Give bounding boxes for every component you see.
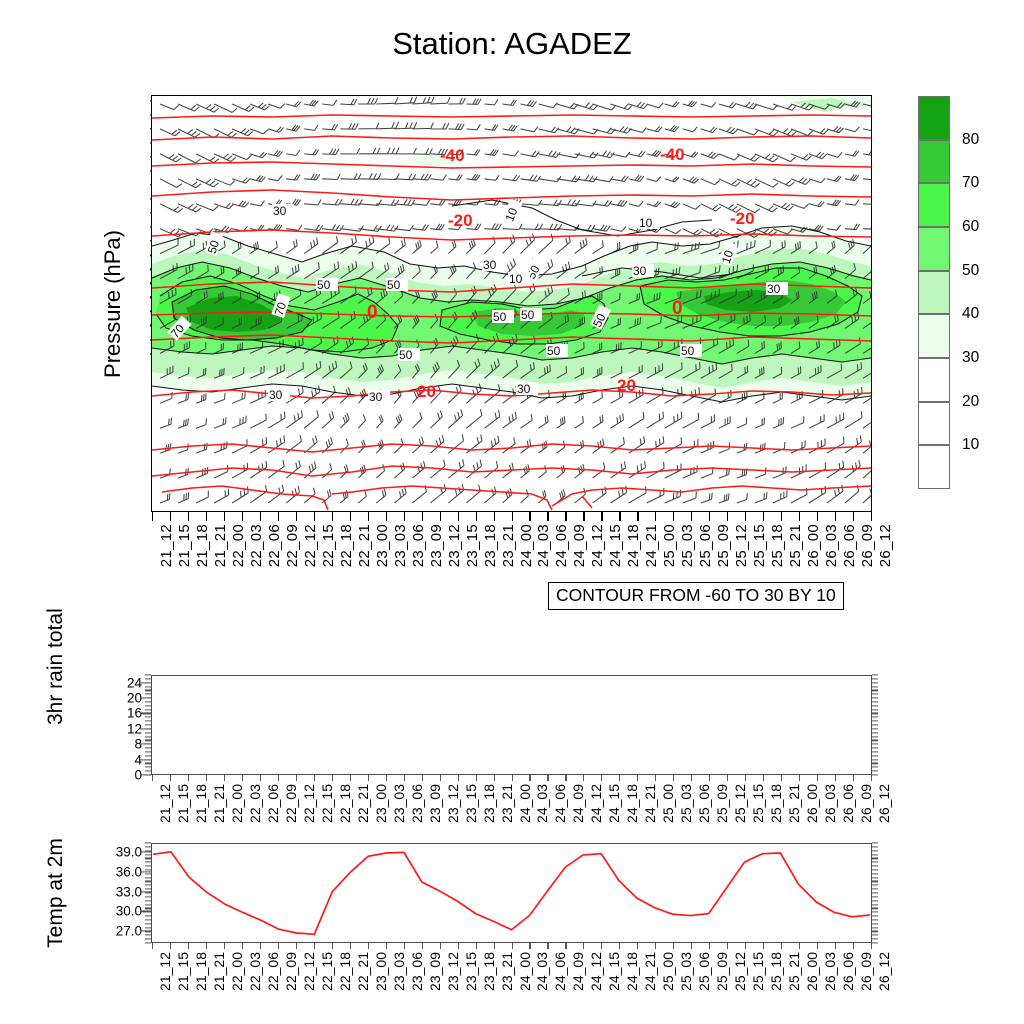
y-minor-tickmark: [872, 744, 878, 745]
time-tickmark: [368, 943, 369, 949]
time-tickmark: [691, 512, 692, 521]
time-tickmark: [817, 512, 818, 521]
y-minor-tickmark: [145, 923, 151, 924]
time-tickmark: [871, 775, 872, 781]
time-tickmark: [691, 775, 692, 781]
time-label-25_12: 25_12: [732, 784, 748, 823]
rh-contour-label: 10: [509, 272, 523, 286]
colorbar-swatch-3: [918, 227, 950, 271]
y-minor-tickmark: [872, 935, 878, 936]
time-label-23_06: 23_06: [409, 952, 425, 991]
y-minor-tickmark: [145, 919, 151, 920]
time-tickmark: [583, 775, 584, 781]
time-label-22_15: 22_15: [319, 952, 335, 991]
time-label-24_09: 24_09: [571, 524, 588, 567]
time-tickmark: [458, 512, 459, 521]
y-minor-tickmark: [872, 869, 878, 870]
time-label-21_15: 21_15: [175, 952, 191, 991]
time-tickmark: [422, 943, 423, 949]
y-minor-tickmark: [145, 896, 151, 897]
time-tickmark: [422, 775, 423, 781]
y-minor-tickmark: [872, 927, 878, 928]
y-minor-tickmark: [145, 690, 151, 691]
time-label-22_12: 22_12: [301, 784, 317, 823]
y-minor-tickmark: [872, 755, 878, 756]
time-label-26_06: 26_06: [840, 952, 856, 991]
rh-contour-label: 50: [547, 344, 561, 358]
y-minor-tickmark: [145, 705, 151, 706]
y-minor-tickmark: [145, 674, 151, 675]
y-minor-tickmark: [872, 881, 878, 882]
time-tickmark: [494, 512, 495, 521]
time-tickmark: [565, 943, 566, 949]
time-tickmark: [673, 512, 674, 521]
time-label-21_21: 21_21: [212, 524, 229, 567]
time-label-26_12: 26_12: [876, 784, 892, 823]
y-minor-tickmark: [145, 927, 151, 928]
rh-contour-label: 30: [269, 388, 283, 402]
time-label-21_12: 21_12: [158, 524, 175, 567]
y-minor-tickmark: [872, 763, 878, 764]
temp-y-axis-label: Temp at 2m: [44, 838, 68, 948]
main-plot-area: -40 -40 -20 -20 0 0 20 20 30 30 30: [151, 95, 872, 512]
y-minor-tickmark: [872, 942, 878, 943]
y-tick-label: 36.0: [116, 864, 142, 879]
time-tickmark: [278, 512, 279, 521]
time-tickmark: [224, 512, 225, 521]
rh-contour-label: 50: [317, 278, 331, 292]
time-tickmark: [170, 943, 171, 949]
time-label-23_21: 23_21: [499, 952, 515, 991]
y-minor-tickmark: [872, 767, 878, 768]
y-minor-tickmark: [872, 885, 878, 886]
y-minor-tickmark: [145, 697, 151, 698]
y-minor-tickmark: [872, 862, 878, 863]
time-label-26_03: 26_03: [822, 952, 838, 991]
colorbar-swatch-6: [918, 358, 950, 402]
time-tickmark: [529, 512, 530, 521]
y-minor-tickmark: [872, 732, 878, 733]
chart-page: Station: AGADEZ Pressure (hPa) 150200250…: [0, 0, 1024, 1024]
time-label-23_00: 23_00: [373, 784, 389, 823]
y-minor-tickmark: [872, 771, 878, 772]
time-tickmark: [458, 943, 459, 949]
time-tickmark: [278, 775, 279, 781]
time-label-25_06: 25_06: [696, 784, 712, 823]
y-minor-tickmark: [872, 751, 878, 752]
isotherm-label: 0: [367, 302, 378, 323]
time-label-22_06: 22_06: [266, 524, 283, 567]
time-tickmark: [727, 775, 728, 781]
colorbar-label-50: 50: [962, 262, 979, 280]
temp-line-svg: [152, 844, 871, 942]
time-tickmark: [655, 512, 656, 521]
time-tickmark: [314, 512, 315, 521]
time-tickmark: [709, 943, 710, 949]
y-minor-tickmark: [145, 942, 151, 943]
time-tickmark: [763, 775, 764, 781]
time-tickmark: [296, 512, 297, 521]
time-tickmark: [476, 512, 477, 521]
colorbar-swatch-0: [918, 96, 950, 140]
time-tickmark: [206, 943, 207, 949]
time-label-23_00: 23_00: [373, 952, 389, 991]
time-tickmark: [637, 943, 638, 949]
time-label-22_06: 22_06: [265, 952, 281, 991]
time-label-25_18: 25_18: [768, 784, 784, 823]
time-tickmark: [637, 512, 638, 521]
time-tickmark: [547, 775, 548, 781]
y-minor-tickmark: [872, 674, 878, 675]
time-label-23_12: 23_12: [445, 784, 461, 823]
rh-contour-label: 30: [767, 282, 781, 296]
y-tickmark: [140, 852, 151, 853]
colorbar-label-10: 10: [962, 436, 979, 454]
time-tickmark: [763, 943, 764, 949]
time-tickmark: [583, 943, 584, 949]
time-label-23_15: 23_15: [463, 952, 479, 991]
time-tickmark: [278, 943, 279, 949]
time-tickmark: [404, 512, 405, 521]
time-tickmark: [745, 512, 746, 521]
y-minor-tickmark: [145, 678, 151, 679]
y-tick-label: 33.0: [116, 884, 142, 899]
time-label-22_15: 22_15: [320, 524, 337, 567]
y-minor-tickmark: [872, 759, 878, 760]
time-tickmark: [512, 512, 513, 521]
time-tickmark: [242, 512, 243, 521]
time-label-25_15: 25_15: [750, 784, 766, 823]
y-minor-tickmark: [145, 912, 151, 913]
time-label-22_21: 22_21: [355, 952, 371, 991]
time-tickmark: [296, 943, 297, 949]
time-tickmark: [709, 775, 710, 781]
time-tickmark: [440, 775, 441, 781]
time-tickmark: [512, 943, 513, 949]
y-minor-tickmark: [872, 908, 878, 909]
y-minor-tickmark: [145, 721, 151, 722]
time-label-24_15: 24_15: [606, 784, 622, 823]
time-label-23_09: 23_09: [428, 524, 445, 567]
time-label-25_15: 25_15: [750, 952, 766, 991]
time-label-24_06: 24_06: [553, 524, 570, 567]
time-label-24_12: 24_12: [588, 952, 604, 991]
time-label-24_18: 24_18: [624, 952, 640, 991]
rh-contour-label: 30: [483, 258, 497, 272]
time-tickmark: [529, 943, 530, 949]
time-tickmark: [332, 512, 333, 521]
time-label-25_15: 25_15: [751, 524, 768, 567]
y-minor-tickmark: [872, 686, 878, 687]
y-tick-label: 39.0: [116, 845, 142, 860]
y-minor-tickmark: [145, 713, 151, 714]
time-tickmark: [547, 943, 548, 949]
rh-contour-label: 10: [639, 216, 653, 230]
time-tickmark: [242, 943, 243, 949]
time-label-23_12: 23_12: [446, 524, 463, 567]
colorbar-label-60: 60: [962, 218, 979, 236]
time-tickmark: [512, 775, 513, 781]
y-minor-tickmark: [872, 694, 878, 695]
rh-contour-label: 50: [399, 348, 413, 362]
time-label-23_03: 23_03: [391, 952, 407, 991]
time-label-26_00: 26_00: [805, 524, 822, 567]
y-minor-tickmark: [872, 919, 878, 920]
y-minor-tickmark: [872, 931, 878, 932]
time-tickmark: [763, 512, 764, 521]
time-tickmark: [350, 512, 351, 521]
time-label-26_03: 26_03: [822, 784, 838, 823]
rh-contour-label: 30: [273, 204, 287, 218]
y-minor-tickmark: [872, 705, 878, 706]
time-label-24_12: 24_12: [588, 784, 604, 823]
time-label-25_12: 25_12: [732, 952, 748, 991]
time-tickmark: [458, 775, 459, 781]
time-tickmark: [170, 512, 171, 521]
time-tickmark: [152, 512, 153, 521]
time-label-23_18: 23_18: [481, 952, 497, 991]
time-label-25_12: 25_12: [733, 524, 750, 567]
y-minor-tickmark: [145, 885, 151, 886]
time-tickmark: [871, 943, 872, 949]
time-tickmark: [206, 775, 207, 781]
time-label-23_00: 23_00: [374, 524, 391, 567]
y-minor-tickmark: [872, 740, 878, 741]
time-label-22_03: 22_03: [248, 524, 265, 567]
colorbar-label-70: 70: [962, 174, 979, 192]
time-tickmark: [368, 512, 369, 521]
time-label-23_15: 23_15: [463, 784, 479, 823]
y-minor-tickmark: [145, 747, 151, 748]
colorbar-swatch-8: [918, 445, 950, 489]
time-label-23_15: 23_15: [464, 524, 481, 567]
rh-contour-label: 30: [633, 264, 647, 278]
y-minor-tickmark: [145, 877, 151, 878]
time-label-25_06: 25_06: [696, 952, 712, 991]
time-label-24_00: 24_00: [517, 952, 533, 991]
time-tickmark: [853, 775, 854, 781]
y-minor-tickmark: [872, 709, 878, 710]
y-minor-tickmark: [872, 721, 878, 722]
y-minor-tickmark: [872, 724, 878, 725]
time-label-22_03: 22_03: [247, 952, 263, 991]
time-label-24_12: 24_12: [589, 524, 606, 567]
time-label-22_12: 22_12: [302, 524, 319, 567]
y-minor-tickmark: [145, 858, 151, 859]
y-minor-tickmark: [872, 904, 878, 905]
rh-contour-label: 50: [493, 310, 507, 324]
time-label-22_18: 22_18: [337, 784, 353, 823]
time-label-24_03: 24_03: [535, 524, 552, 567]
colorbar-label-80: 80: [962, 131, 979, 149]
time-label-25_03: 25_03: [678, 784, 694, 823]
colorbar-swatch-5: [918, 314, 950, 358]
time-label-25_00: 25_00: [660, 952, 676, 991]
time-label-22_00: 22_00: [229, 784, 245, 823]
time-tickmark: [619, 943, 620, 949]
time-tickmark: [350, 943, 351, 949]
colorbar-label-30: 30: [962, 349, 979, 367]
time-tickmark: [655, 943, 656, 949]
time-label-24_03: 24_03: [534, 784, 550, 823]
time-label-22_00: 22_00: [230, 524, 247, 567]
time-label-24_18: 24_18: [625, 524, 642, 567]
isotherm-label: -20: [448, 211, 473, 230]
time-tickmark: [206, 512, 207, 521]
time-label-24_06: 24_06: [552, 784, 568, 823]
time-tickmark: [152, 775, 153, 781]
time-label-25_21: 25_21: [787, 524, 804, 567]
time-tickmark: [727, 943, 728, 949]
time-tickmark: [494, 943, 495, 949]
y-tick-label: 30.0: [116, 904, 142, 919]
y-minor-tickmark: [145, 935, 151, 936]
time-label-26_12: 26_12: [877, 524, 894, 567]
time-tickmark: [691, 943, 692, 949]
time-label-22_21: 22_21: [356, 524, 373, 567]
time-label-24_00: 24_00: [517, 784, 533, 823]
time-label-21_12: 21_12: [157, 952, 173, 991]
time-label-25_21: 25_21: [786, 784, 802, 823]
main-plot-svg: -40 -40 -20 -20 0 0 20 20 30 30 30: [152, 96, 871, 511]
time-tickmark: [745, 943, 746, 949]
time-label-21_21: 21_21: [211, 784, 227, 823]
y-minor-tickmark: [145, 724, 151, 725]
isotherm-label: -40: [660, 145, 685, 164]
time-label-22_09: 22_09: [284, 524, 301, 567]
y-minor-tickmark: [872, 912, 878, 913]
time-tickmark: [224, 775, 225, 781]
time-tickmark: [152, 943, 153, 949]
time-tickmark: [637, 775, 638, 781]
time-label-24_21: 24_21: [643, 524, 660, 567]
time-tickmark: [386, 512, 387, 521]
y-minor-tickmark: [872, 736, 878, 737]
y-minor-tickmark: [145, 751, 151, 752]
time-tickmark: [350, 775, 351, 781]
y-minor-tickmark: [145, 873, 151, 874]
time-label-25_00: 25_00: [660, 784, 676, 823]
time-label-21_21: 21_21: [211, 952, 227, 991]
y-minor-tickmark: [145, 850, 151, 851]
y-minor-tickmark: [872, 865, 878, 866]
time-label-22_12: 22_12: [301, 952, 317, 991]
y-minor-tickmark: [145, 900, 151, 901]
y-minor-tickmark: [145, 686, 151, 687]
y-minor-tickmark: [145, 939, 151, 940]
time-tickmark: [601, 943, 602, 949]
time-tickmark: [440, 512, 441, 521]
y-minor-tickmark: [145, 931, 151, 932]
y-minor-tickmark: [145, 869, 151, 870]
time-label-21_18: 21_18: [193, 784, 209, 823]
time-tickmark: [601, 775, 602, 781]
y-minor-tickmark: [145, 694, 151, 695]
time-label-24_06: 24_06: [552, 952, 568, 991]
time-label-25_09: 25_09: [714, 952, 730, 991]
y-minor-tickmark: [145, 717, 151, 718]
y-minor-tickmark: [145, 846, 151, 847]
y-minor-tickmark: [872, 873, 878, 874]
y-minor-tickmark: [145, 682, 151, 683]
time-label-23_09: 23_09: [427, 784, 443, 823]
time-tickmark: [799, 512, 800, 521]
time-tickmark: [188, 775, 189, 781]
time-label-25_06: 25_06: [697, 524, 714, 567]
time-label-21_12: 21_12: [157, 784, 173, 823]
time-tickmark: [583, 512, 584, 521]
time-tickmark: [619, 512, 620, 521]
time-label-23_18: 23_18: [482, 524, 499, 567]
time-label-21_15: 21_15: [175, 784, 191, 823]
time-tickmark: [494, 775, 495, 781]
y-minor-tickmark: [872, 892, 878, 893]
time-label-21_18: 21_18: [194, 524, 211, 567]
time-tickmark: [817, 775, 818, 781]
time-tickmark: [260, 512, 261, 521]
contour-caption: CONTOUR FROM -60 TO 30 BY 10: [548, 582, 844, 610]
colorbar-swatch-1: [918, 140, 950, 184]
y-minor-tickmark: [872, 728, 878, 729]
isotherm-label: 20: [417, 382, 436, 401]
y-minor-tickmark: [145, 740, 151, 741]
time-tickmark: [673, 943, 674, 949]
time-tickmark: [242, 775, 243, 781]
time-label-24_03: 24_03: [534, 952, 550, 991]
y-minor-tickmark: [145, 736, 151, 737]
y-minor-tickmark: [145, 759, 151, 760]
time-label-22_18: 22_18: [337, 952, 353, 991]
time-label-21_15: 21_15: [176, 524, 193, 567]
time-tickmark: [565, 775, 566, 781]
y-minor-tickmark: [145, 744, 151, 745]
isotherm-label: 20: [617, 376, 636, 395]
time-tickmark: [476, 775, 477, 781]
time-tickmark: [817, 943, 818, 949]
y-minor-tickmark: [145, 709, 151, 710]
rain-panel: 3hr rain total 0481216202421_1221_1521_1…: [151, 675, 872, 775]
time-tickmark: [727, 512, 728, 521]
time-label-26_09: 26_09: [858, 952, 874, 991]
time-label-22_15: 22_15: [319, 784, 335, 823]
y-minor-tickmark: [145, 904, 151, 905]
time-label-25_09: 25_09: [714, 784, 730, 823]
time-label-22_09: 22_09: [283, 784, 299, 823]
time-tickmark: [332, 775, 333, 781]
time-label-24_21: 24_21: [642, 952, 658, 991]
y-minor-tickmark: [145, 728, 151, 729]
y-minor-tickmark: [872, 858, 878, 859]
time-tickmark: [386, 943, 387, 949]
rh-contour-label: 30: [517, 382, 531, 396]
time-tickmark: [781, 775, 782, 781]
time-label-23_09: 23_09: [427, 952, 443, 991]
time-tickmark: [547, 512, 548, 521]
time-label-25_03: 25_03: [678, 952, 694, 991]
y-minor-tickmark: [145, 915, 151, 916]
time-label-24_00: 24_00: [518, 524, 535, 567]
time-tickmark: [601, 512, 602, 521]
time-label-26_12: 26_12: [876, 952, 892, 991]
time-tickmark: [709, 512, 710, 521]
time-label-23_21: 23_21: [499, 784, 515, 823]
time-label-23_18: 23_18: [481, 784, 497, 823]
time-tickmark: [296, 775, 297, 781]
time-tickmark: [835, 943, 836, 949]
y-minor-tickmark: [872, 678, 878, 679]
time-label-22_18: 22_18: [338, 524, 355, 567]
y-minor-tickmark: [872, 896, 878, 897]
